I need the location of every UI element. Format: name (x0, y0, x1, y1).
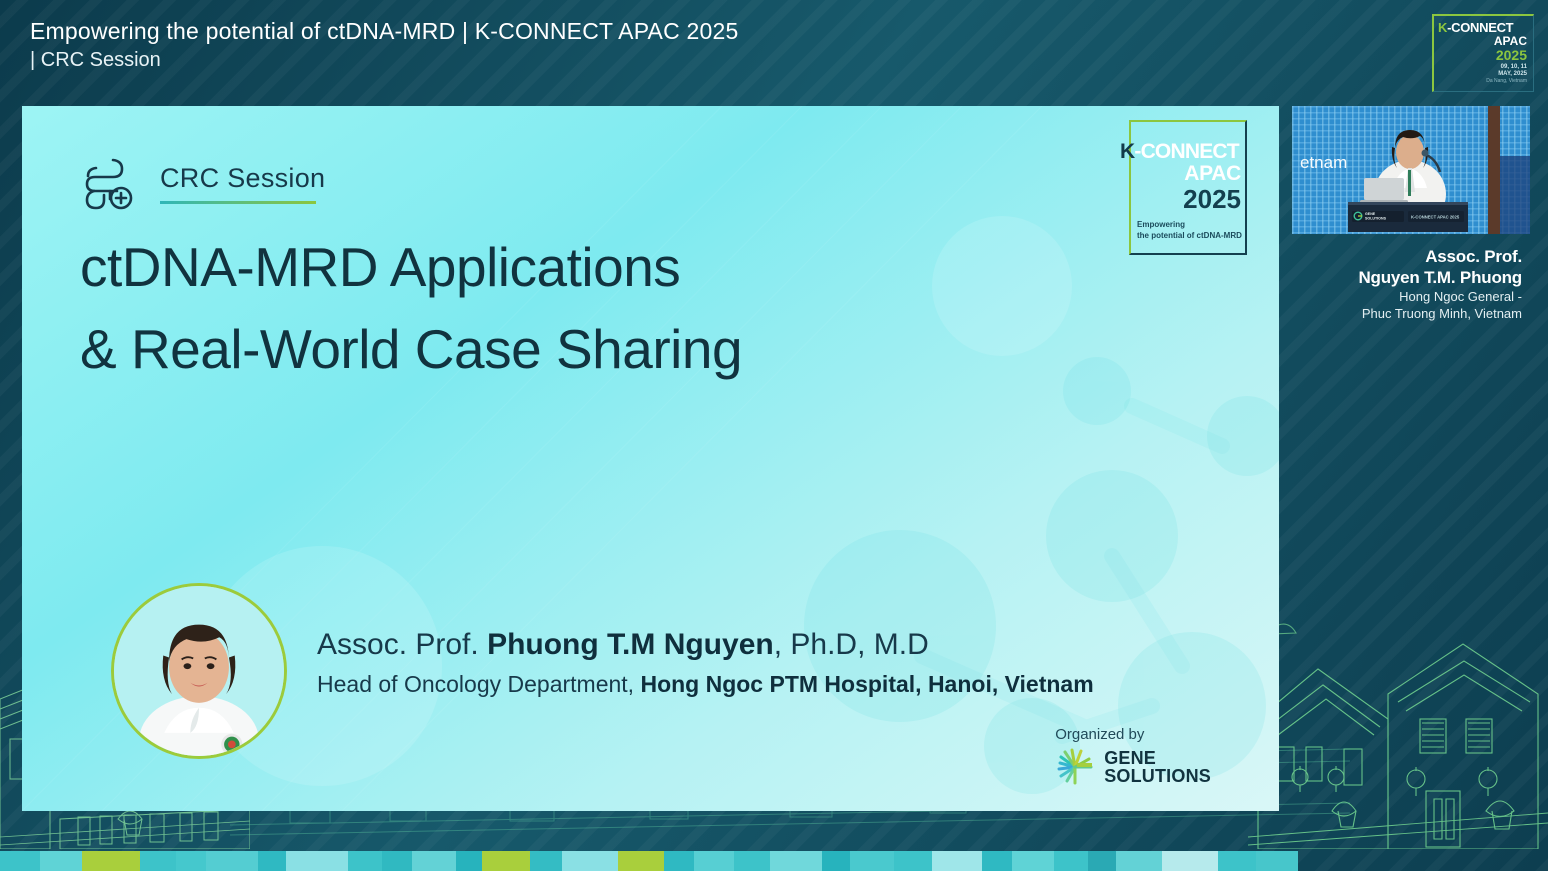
session-underline (160, 201, 316, 204)
color-strip-band (286, 851, 348, 871)
color-strip-band (932, 851, 982, 871)
gene-solutions-wordmark: GENE SOLUTIONS (1104, 749, 1211, 785)
logo-dates-line: 09, 10, 11 (1498, 64, 1527, 71)
presenter-fullname: Phuong T.M Nguyen (487, 628, 774, 661)
presenter-degrees: , Ph.D, M.D (774, 628, 929, 661)
color-strip-band (1256, 851, 1298, 871)
presentation-slide[interactable]: CRC Session ctDNA-MRD Applications & Rea… (22, 106, 1279, 811)
color-strip-band (1054, 851, 1088, 871)
session-label-wrap: CRC Session (160, 163, 325, 204)
slide-logo-tagline-line-2: the potential of ctDNA-MRD (1137, 230, 1242, 241)
colon-intestine-icon (80, 154, 138, 212)
video-caption-line-1: Assoc. Prof. (1292, 246, 1522, 267)
logo-connect-text: -CONNECT (1447, 20, 1513, 35)
presenter-avatar (111, 583, 287, 759)
logo-month-line: MAY, 2025 (1498, 71, 1527, 78)
video-caption-title: Assoc. Prof. Nguyen T.M. Phuong (1292, 246, 1522, 288)
organized-by-label: Organized by (1055, 726, 1211, 743)
video-caption-line-4: Phuc Truong Minh, Vietnam (1292, 305, 1522, 322)
video-caption-line-2: Nguyen T.M. Phuong (1292, 267, 1522, 288)
video-caption-subtitle: Hong Ngoc General - Phuc Truong Minh, Vi… (1292, 288, 1522, 322)
organized-by-block: Organized by (1055, 726, 1211, 787)
svg-text:SOLUTIONS: SOLUTIONS (1365, 217, 1387, 221)
gene-solutions-logo: GENE SOLUTIONS (1055, 747, 1211, 787)
slide-title-line-1: ctDNA-MRD Applications (80, 226, 900, 308)
color-strip-band (618, 851, 664, 871)
color-strip-band (982, 851, 1012, 871)
color-strip-band (176, 851, 206, 871)
logo-k-letter: K (1438, 20, 1447, 35)
presenter-affiliation: Hong Ngoc PTM Hospital, Hanoi, Vietnam (640, 671, 1093, 697)
presenter-role: Head of Oncology Department, Hong Ngoc P… (317, 667, 1094, 701)
color-strip-band (694, 851, 734, 871)
page-subtitle: | CRC Session (30, 46, 1548, 74)
color-strip-band (40, 851, 82, 871)
gene-solutions-mark-icon (1055, 747, 1095, 787)
slide-logo-connect-text: -CONNECT (1134, 140, 1238, 163)
color-strip-band (82, 851, 140, 871)
presenter-prefix: Assoc. Prof. (317, 628, 487, 661)
page-title: Empowering the potential of ctDNA-MRD | … (30, 16, 1548, 46)
color-strip-band (0, 851, 40, 871)
color-strip-band (894, 851, 932, 871)
presenter-info: Assoc. Prof. Phuong T.M Nguyen, Ph.D, M.… (317, 623, 1094, 701)
logo-dates-text: 09, 10, 11 MAY, 2025 (1498, 64, 1527, 78)
color-strip-band (382, 851, 412, 871)
color-strip-band (850, 851, 894, 871)
color-strip-band (822, 851, 850, 871)
color-strip-band (206, 851, 258, 871)
color-strip-band (770, 851, 822, 871)
bottom-color-strip (0, 851, 1548, 871)
gene-solutions-line-1: GENE (1104, 749, 1211, 767)
slide-logo-tagline-line-1: Empowering (1137, 219, 1242, 230)
logo-apac-text: APAC (1494, 34, 1527, 48)
color-strip-band (664, 851, 694, 871)
session-eyebrow: CRC Session (80, 154, 325, 212)
video-caption: Assoc. Prof. Nguyen T.M. Phuong Hong Ngo… (1292, 246, 1530, 322)
slide-logo-year-text: 2025 (1183, 184, 1241, 215)
color-strip-band (562, 851, 618, 871)
slide-logo-apac-text: APAC (1184, 162, 1241, 186)
color-strip-band (1088, 851, 1116, 871)
session-label: CRC Session (160, 163, 325, 194)
color-strip-band (482, 851, 530, 871)
slide-title: ctDNA-MRD Applications & Real-World Case… (80, 226, 900, 390)
slide-logo-tagline: Empowering the potential of ctDNA-MRD (1137, 219, 1242, 241)
color-strip-band (1012, 851, 1054, 871)
slide-title-line-2: & Real-World Case Sharing (80, 308, 900, 390)
color-strip-band (258, 851, 286, 871)
color-strip-band (1116, 851, 1162, 871)
color-strip-band (140, 851, 176, 871)
video-frame[interactable]: etnam GENE SOLUTIONS K-CONNE (1292, 106, 1530, 234)
conference-logo-slide: K-CONNECT APAC 2025 Empowering the poten… (1129, 120, 1247, 255)
presenter-role-prefix: Head of Oncology Department, (317, 671, 640, 697)
color-strip-band (530, 851, 562, 871)
video-caption-line-3: Hong Ngoc General - (1292, 288, 1522, 305)
svg-text:etnam: etnam (1300, 153, 1347, 172)
color-strip-band (456, 851, 482, 871)
color-strip-band (412, 851, 456, 871)
logo-kconnect-line: K-CONNECT (1438, 20, 1513, 35)
logo-venue-text: Da Nang, Vietnam (1486, 78, 1527, 84)
slide-logo-k-letter: K (1120, 140, 1134, 163)
video-still-graphic: etnam GENE SOLUTIONS K-CONNE (1292, 106, 1530, 234)
header-bar: Empowering the potential of ctDNA-MRD | … (0, 0, 1548, 100)
gene-solutions-line-2: SOLUTIONS (1104, 767, 1211, 785)
slide-logo-kconnect-line: K-CONNECT (1120, 140, 1239, 164)
svg-text:GENE: GENE (1365, 212, 1376, 216)
logo-year-text: 2025 (1496, 47, 1527, 63)
svg-text:K-CONNECT APAC 2025: K-CONNECT APAC 2025 (1411, 215, 1460, 220)
color-strip-band (1162, 851, 1218, 871)
presenter-name: Assoc. Prof. Phuong T.M Nguyen, Ph.D, M.… (317, 623, 1094, 667)
conference-logo-header: K-CONNECT APAC 2025 09, 10, 11 MAY, 2025… (1432, 14, 1534, 92)
speaker-video-panel[interactable]: etnam GENE SOLUTIONS K-CONNE (1292, 106, 1530, 336)
color-strip-band (1218, 851, 1256, 871)
color-strip-band (734, 851, 770, 871)
color-strip-band (348, 851, 382, 871)
presenter-portrait-graphic (114, 586, 284, 756)
